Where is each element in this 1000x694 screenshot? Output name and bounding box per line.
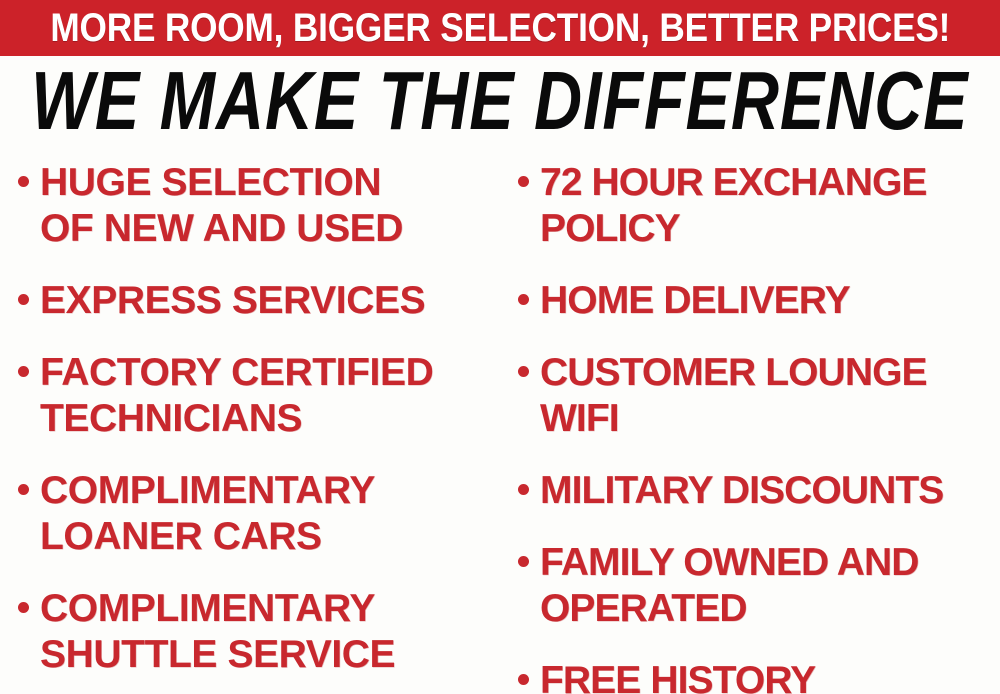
top-red-banner: MORE ROOM, BIGGER SELECTION, BETTER PRIC… [0,0,1000,56]
list-item-line-1: 72 HOUR EXCHANGE [540,161,927,204]
list-item-line-1: FACTORY CERTIFIED [40,351,433,394]
list-item-line-1: HOME DELIVERY [540,279,850,322]
feature-list-right-column: 72 HOUR EXCHANGE POLICY HOME DELIVERY CU… [518,160,1000,694]
list-item-label: EXPRESS SERVICES [40,278,425,324]
bullet-dot-icon [518,294,529,305]
list-item-line-1: COMPLIMENTARY [40,587,375,630]
list-item-label: FAMILY OWNED AND OPERATED [540,540,919,632]
bullet-dot-icon [18,602,29,613]
list-item: COMPLIMENTARY SHUTTLE SERVICE [18,586,498,678]
feature-list-left-column: HUGE SELECTION OF NEW AND USED EXPRESS S… [18,160,498,694]
list-item-line-2: LOANER CARS [40,515,322,558]
bullet-dot-icon [518,484,529,495]
list-item-line-2: TECHNICIANS [40,397,302,440]
list-item: FACTORY CERTIFIED TECHNICIANS [18,350,498,442]
bullet-dot-icon [518,176,529,187]
list-item: FREE HISTORY REPORTS [518,658,1000,694]
list-item-label: HUGE SELECTION OF NEW AND USED [40,160,403,252]
list-item-label: 72 HOUR EXCHANGE POLICY [540,160,927,252]
bullet-dot-icon [18,366,29,377]
list-item-line-2: POLICY [540,207,680,250]
list-item-line-1: FREE HISTORY [540,659,815,694]
list-item-line-1: EXPRESS SERVICES [40,279,425,322]
list-item-line-1: CUSTOMER LOUNGE [540,351,927,394]
list-item-line-1: COMPLIMENTARY [40,469,375,512]
list-item: CUSTOMER LOUNGE WIFI [518,350,1000,442]
bullet-dot-icon [18,176,29,187]
page-title: WE MAKE THE DIFFERENCE [31,60,968,143]
list-item-line-2: OF NEW AND USED [40,207,403,250]
bullet-dot-icon [518,556,529,567]
list-item: EXPRESS SERVICES [18,278,498,324]
list-item-label: FACTORY CERTIFIED TECHNICIANS [40,350,433,442]
bullet-dot-icon [518,674,529,685]
bullet-dot-icon [18,484,29,495]
list-item: MILITARY DISCOUNTS [518,468,1000,514]
list-item: COMPLIMENTARY LOANER CARS [18,468,498,560]
list-item-label: CUSTOMER LOUNGE WIFI [540,350,927,442]
bullet-dot-icon [518,366,529,377]
list-item-line-1: HUGE SELECTION [40,161,381,204]
list-item-label: HOME DELIVERY [540,278,850,324]
list-item-label: FREE HISTORY REPORTS [540,658,815,694]
list-item-line-2: SHUTTLE SERVICE [40,633,395,676]
list-item: HOME DELIVERY [518,278,1000,324]
bullet-dot-icon [18,294,29,305]
list-item-label: COMPLIMENTARY SHUTTLE SERVICE [40,586,395,678]
list-item: HUGE SELECTION OF NEW AND USED [18,160,498,252]
main-headline-container: WE MAKE THE DIFFERENCE [0,62,1000,140]
banner-headline-text: MORE ROOM, BIGGER SELECTION, BETTER PRIC… [50,8,950,48]
promotional-banner-image: MORE ROOM, BIGGER SELECTION, BETTER PRIC… [0,0,1000,694]
list-item-line-1: MILITARY DISCOUNTS [540,469,943,512]
list-item-label: MILITARY DISCOUNTS [540,468,943,514]
list-item-label: COMPLIMENTARY LOANER CARS [40,468,375,560]
list-item: 72 HOUR EXCHANGE POLICY [518,160,1000,252]
list-item-line-2: WIFI [540,397,619,440]
list-item-line-1: FAMILY OWNED AND [540,541,919,584]
list-item-line-2: OPERATED [540,587,747,630]
list-item: FAMILY OWNED AND OPERATED [518,540,1000,632]
